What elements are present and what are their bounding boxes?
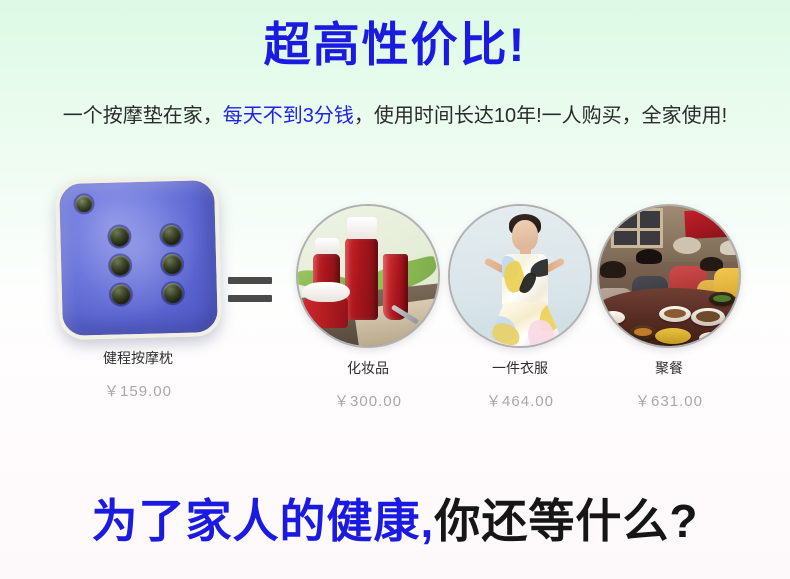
page-title: 超高性价比!: [0, 18, 790, 72]
cosmetic-jar-icon: [304, 298, 348, 328]
dinner-photo: [597, 204, 741, 348]
comparison-item-price: ￥464.00: [443, 390, 597, 411]
comparison-item-name: 一件衣服: [443, 358, 597, 378]
power-button-icon: [75, 195, 92, 212]
subtitle-highlight: 每天不到3分钱: [223, 105, 354, 127]
price-comparison-row: 健程按摩枕 ￥159.00 化妆品 ￥300.00: [0, 172, 790, 422]
cta-black-text: 你还等什么?: [434, 495, 698, 547]
massage-node-icon: [109, 255, 130, 276]
dish-icon: [601, 311, 625, 324]
dish-icon: [659, 306, 691, 322]
comparison-item-name: 聚餐: [592, 358, 746, 378]
comparison-card-dinner: 聚餐 ￥631.00: [592, 198, 746, 411]
wall-banner-icon: [684, 209, 727, 239]
massage-node-icon: [161, 225, 182, 246]
dish-icon: [709, 292, 735, 306]
dish-icon: [609, 334, 639, 348]
equals-bar-top: [228, 277, 272, 284]
cosmetic-bottle-icon: [345, 238, 378, 320]
subtitle-line: 一个按摩垫在家，每天不到3分钱，使用时间长达10年!一人购买，全家使用!: [0, 99, 790, 128]
dress-bodice-icon: [502, 254, 548, 306]
dish-icon: [691, 308, 725, 326]
comparison-item-name: 化妆品: [291, 358, 445, 378]
call-to-action-line: 为了家人的健康,你还等什么?: [0, 494, 790, 549]
equals-bar-bottom: [228, 295, 272, 302]
comparison-item-price: ￥300.00: [291, 390, 445, 411]
dish-icon: [655, 328, 691, 344]
cta-blue-text: 为了家人的健康,: [92, 495, 435, 547]
equals-icon: [228, 277, 278, 307]
window-icon: [611, 208, 663, 248]
massage-node-icon: [110, 284, 131, 305]
dining-table: [597, 288, 741, 348]
massage-node-icon: [162, 283, 183, 304]
product-price: ￥159.00: [48, 380, 228, 401]
promo-banner: 超高性价比! 一个按摩垫在家，每天不到3分钱，使用时间长达10年!一人购买，全家…: [0, 0, 790, 579]
subtitle-part-2: ，使用时间长达10年!一人购买，全家使用!: [354, 105, 727, 127]
subtitle-part-1: 一个按摩垫在家，: [63, 105, 223, 127]
massage-node-icon: [109, 226, 130, 247]
product-name: 健程按摩枕: [48, 348, 228, 368]
product-card-massage-pillow: 健程按摩枕 ￥159.00: [48, 172, 228, 422]
comparison-item-price: ￥631.00: [592, 390, 746, 411]
comparison-card-clothing: 一件衣服 ￥464.00: [443, 198, 597, 411]
cosmetics-photo: [296, 204, 440, 348]
massage-pillow-icon: [54, 176, 221, 340]
clothing-photo: [448, 204, 592, 348]
comparison-card-cosmetics: 化妆品 ￥300.00: [291, 198, 445, 411]
dish-icon: [699, 332, 725, 344]
massage-node-icon: [161, 254, 182, 275]
